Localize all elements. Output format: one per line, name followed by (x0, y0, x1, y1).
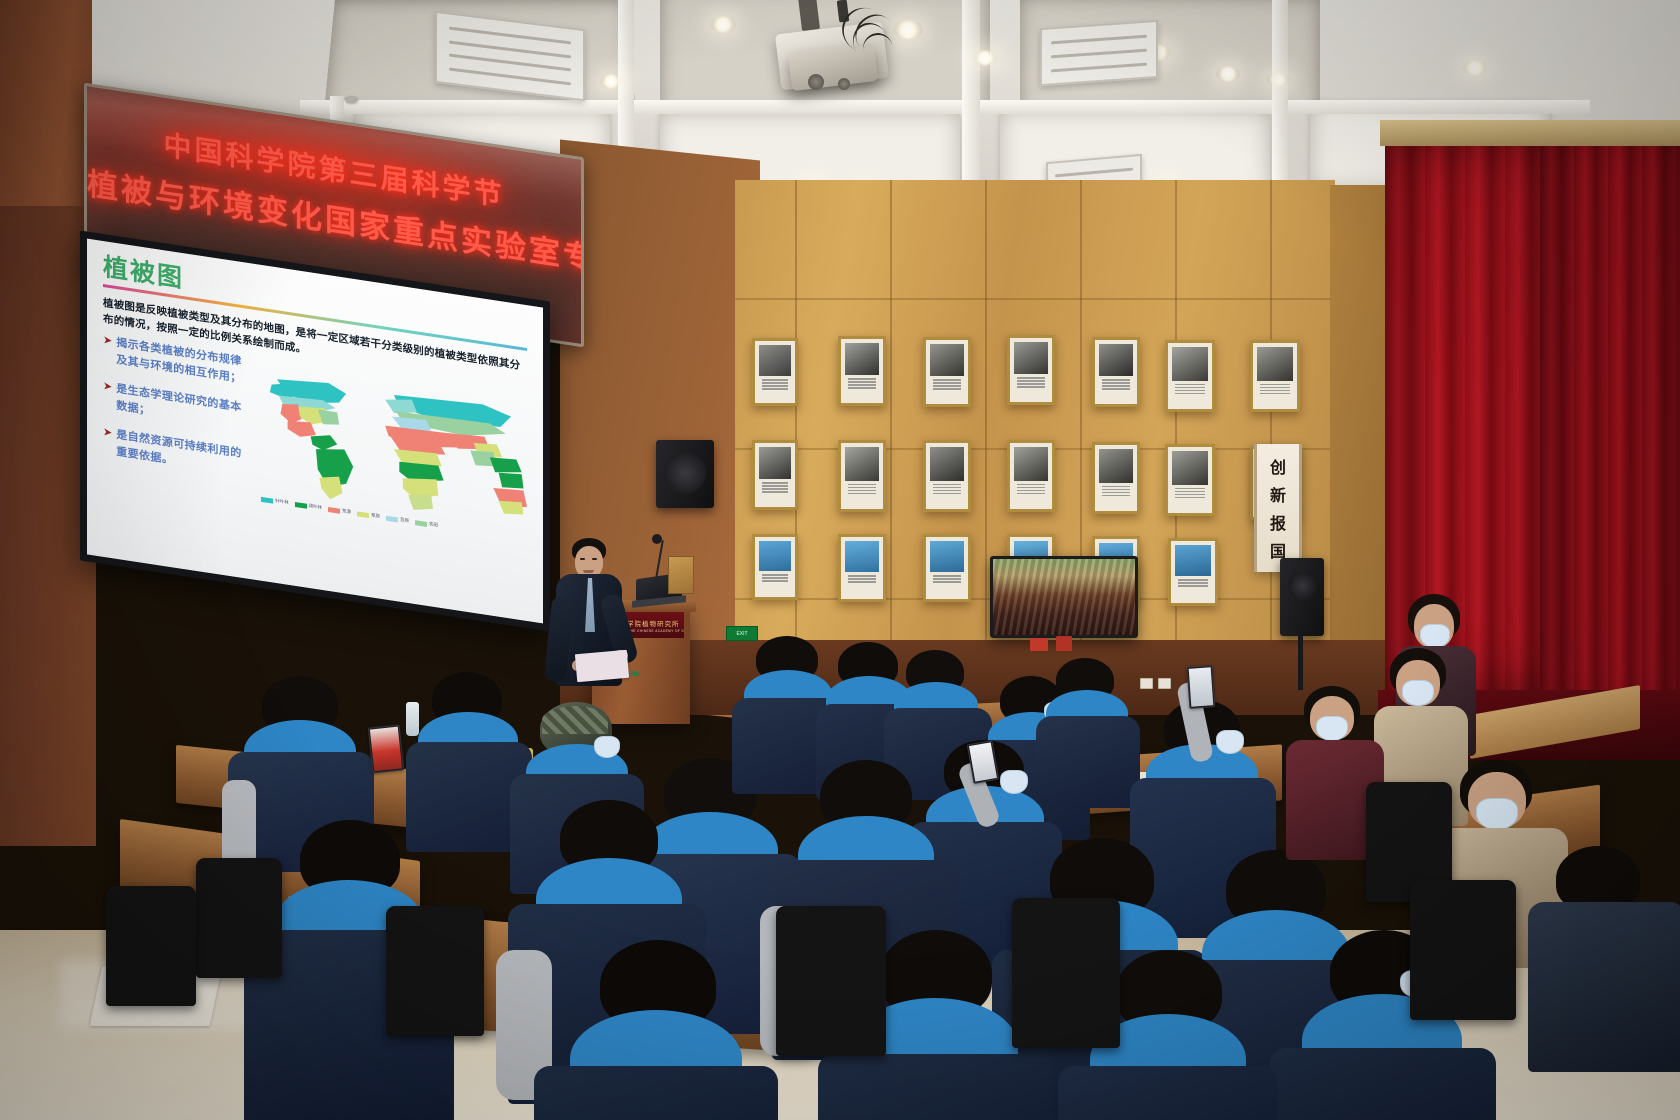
chair (1012, 898, 1120, 1048)
portrait-frame (752, 440, 798, 510)
exit-sign: EXIT (726, 626, 758, 641)
legend-label: 苔原 (400, 517, 409, 524)
ceiling-downlight (893, 20, 923, 40)
legend-item: 阔叶林 (295, 501, 323, 511)
wall-outlet (1158, 678, 1171, 689)
legend-item: 苔原 (386, 515, 409, 524)
legend-label: 农田 (429, 521, 438, 528)
list-item: ➤ 是生态学理论研究的基本数据； (103, 379, 253, 435)
portrait-frame (752, 338, 798, 406)
portrait-frame (838, 440, 886, 512)
presentation-slide: 植被图 植被图是反映植被类型及其分布的地图，是将一定区域若干分类级别的植被类型依… (87, 239, 543, 624)
portrait-frame (752, 534, 798, 600)
chair (386, 906, 484, 1036)
smartphone[interactable] (368, 724, 405, 773)
legend-item: 荒漠 (328, 506, 351, 515)
legend-label: 阔叶林 (309, 503, 323, 511)
exit-label: EXIT (736, 631, 747, 637)
wall-monitor (990, 556, 1138, 638)
portrait-frame (1092, 442, 1140, 514)
stage-curtain-right (1540, 120, 1680, 730)
bullet-text: 是生态学理论研究的基本数据； (116, 381, 253, 435)
calligraphy-scroll: 创 新 报 国 (1254, 444, 1302, 572)
eye (592, 558, 597, 560)
fire-equipment-sign (1056, 636, 1072, 651)
portrait-frame (923, 440, 971, 512)
ceiling-downlight (1216, 66, 1240, 82)
chair (1410, 880, 1516, 1020)
scroll-char: 新 (1270, 482, 1286, 506)
cap (542, 706, 608, 734)
legend-item: 草原 (357, 510, 380, 519)
legend-label: 草原 (371, 513, 380, 520)
microphone-head (652, 534, 662, 544)
arrow-bullet-icon: ➤ (103, 425, 112, 459)
fire-equipment-sign (1030, 638, 1048, 651)
eye (580, 558, 585, 560)
mouth (583, 570, 594, 573)
wall-outlet (1140, 678, 1153, 689)
legend-item: 农田 (415, 519, 438, 528)
arrow-bullet-icon: ➤ (103, 379, 112, 413)
speaker-stand (1298, 634, 1303, 690)
portrait-frame (923, 337, 971, 407)
portrait-frame (1007, 440, 1055, 512)
ceiling-downlight (1267, 72, 1289, 87)
portrait-frame (838, 534, 886, 602)
scroll-char: 报 (1270, 510, 1286, 534)
portrait-frame (1250, 340, 1300, 412)
slide-bullet-list: ➤ 揭示各类植被的分布规律及其与环境的相互作用； ➤ 是生态学理论研究的基本数据… (103, 333, 253, 501)
portrait-frame (1165, 340, 1215, 412)
smoke-detector (345, 96, 358, 103)
chair (106, 886, 196, 1006)
legend-label: 荒漠 (342, 508, 351, 515)
portrait-frame (1168, 538, 1218, 606)
curtain-valance (1380, 120, 1680, 146)
ceiling-downlight (973, 50, 997, 66)
projection-screen: 植被图 植被图是反映植被类型及其分布的地图，是将一定区域若干分类级别的植被类型依… (80, 230, 550, 631)
chair (776, 906, 886, 1056)
ceiling-downlight (710, 16, 736, 33)
audio-speaker-left (656, 440, 714, 508)
water-bottle (406, 702, 419, 736)
arrow-bullet-icon: ➤ (103, 333, 112, 367)
smartphone[interactable] (1187, 665, 1216, 709)
presenter-papers (575, 650, 629, 682)
ceiling-downlight (1463, 60, 1487, 76)
scroll-char: 创 (1270, 454, 1286, 478)
legend-item: 针叶林 (261, 496, 289, 506)
wall-plaque (668, 556, 694, 594)
ac-vent (1040, 20, 1158, 86)
portrait-frame (1007, 335, 1055, 405)
wall-right-edge (1330, 185, 1390, 685)
ceiling-downlight (600, 74, 622, 89)
bullet-text: 是自然资源可持续利用的重要依据。 (116, 427, 253, 481)
portrait-frame (1092, 337, 1140, 407)
audio-speaker-right (1280, 558, 1324, 636)
portrait-frame (1165, 444, 1215, 516)
portrait-frame (923, 534, 971, 602)
chair (196, 858, 282, 978)
lecture-hall-scene: 中国科学院第三届科学节 植被与环境变化国家重点实验室专场 植被图 植被图是反映植… (0, 0, 1680, 1120)
legend-label: 针叶林 (275, 498, 289, 506)
podium-logo-icon: ❧ (630, 666, 641, 682)
list-item: ➤ 是自然资源可持续利用的重要依据。 (103, 425, 253, 481)
monitor-screen (993, 559, 1135, 635)
portrait-frame (838, 336, 886, 406)
